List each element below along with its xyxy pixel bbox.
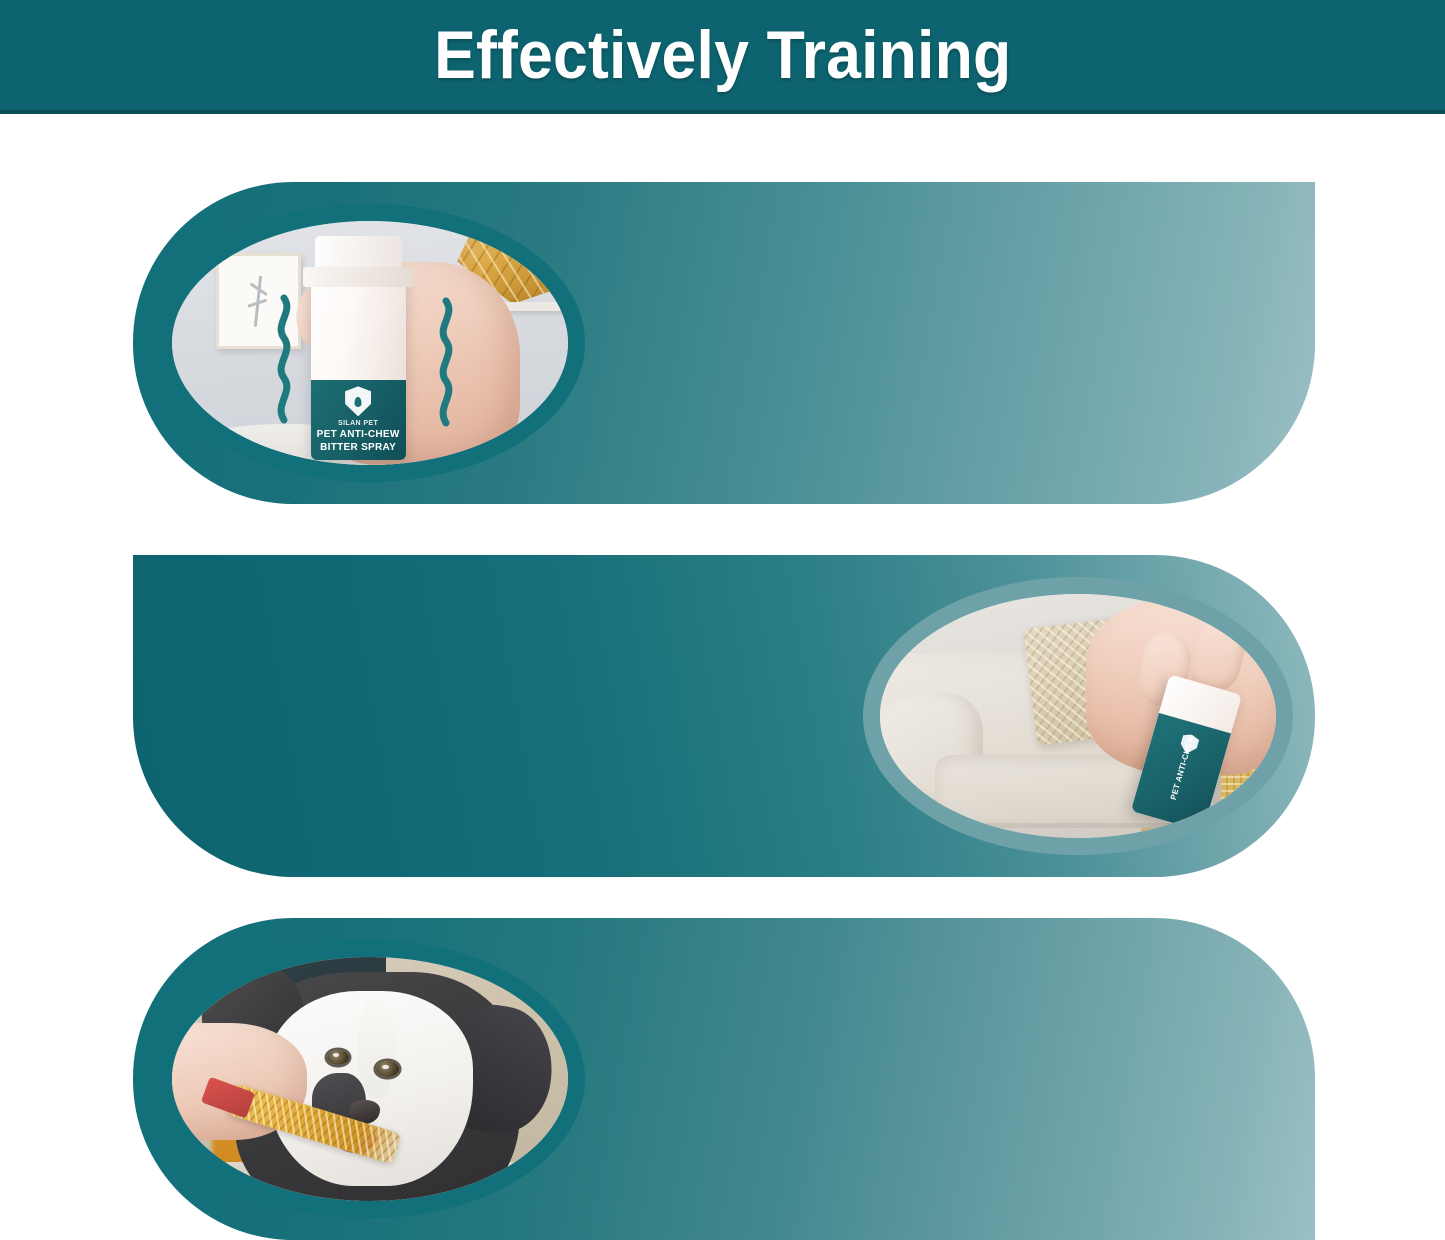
bottle-collar <box>303 267 414 287</box>
step-1-photo: SILAN PET PET ANTI-CHEW BITTER SPRAY <box>172 221 568 465</box>
step-2-photo-frame: PET ANTI-CHEW <box>863 577 1293 855</box>
bottle-label: SILAN PET PET ANTI-CHEW BITTER SPRAY <box>311 380 406 460</box>
dog-eye-right <box>376 1061 399 1077</box>
botanical-sprig-icon <box>254 276 262 327</box>
step-3-photo <box>172 957 568 1201</box>
shake-motion-wave-left-icon <box>271 294 297 424</box>
spray-bottle: SILAN PET PET ANTI-CHEW BITTER SPRAY <box>311 270 406 460</box>
step-3-photo-frame <box>155 940 585 1218</box>
step-card-3: Repeated as often as needed till your pe… <box>133 918 1315 1240</box>
bottle-label-line-2: BITTER SPRAY <box>320 442 396 455</box>
bottle-label-line-1: PET ANTI-CHEW <box>317 429 400 442</box>
step-1-photo-frame: SILAN PET PET ANTI-CHEW BITTER SPRAY <box>155 204 585 482</box>
dog-eye-left <box>327 1050 350 1066</box>
step-card-1: SILAN PET PET ANTI-CHEW BITTER SPRAY Sha… <box>133 182 1315 504</box>
header-banner: Effectively Training <box>0 0 1445 114</box>
dog-face-blaze <box>358 997 395 1098</box>
step-2-photo: PET ANTI-CHEW <box>880 594 1276 838</box>
page-title: Effectively Training <box>434 21 1011 89</box>
bottle-brand-text: SILAN PET <box>338 420 378 427</box>
step-card-2: PET ANTI-CHEW Spray it on whatever you w… <box>133 555 1315 877</box>
shake-motion-wave-right-icon <box>433 297 459 427</box>
shield-logo-icon <box>345 386 371 416</box>
